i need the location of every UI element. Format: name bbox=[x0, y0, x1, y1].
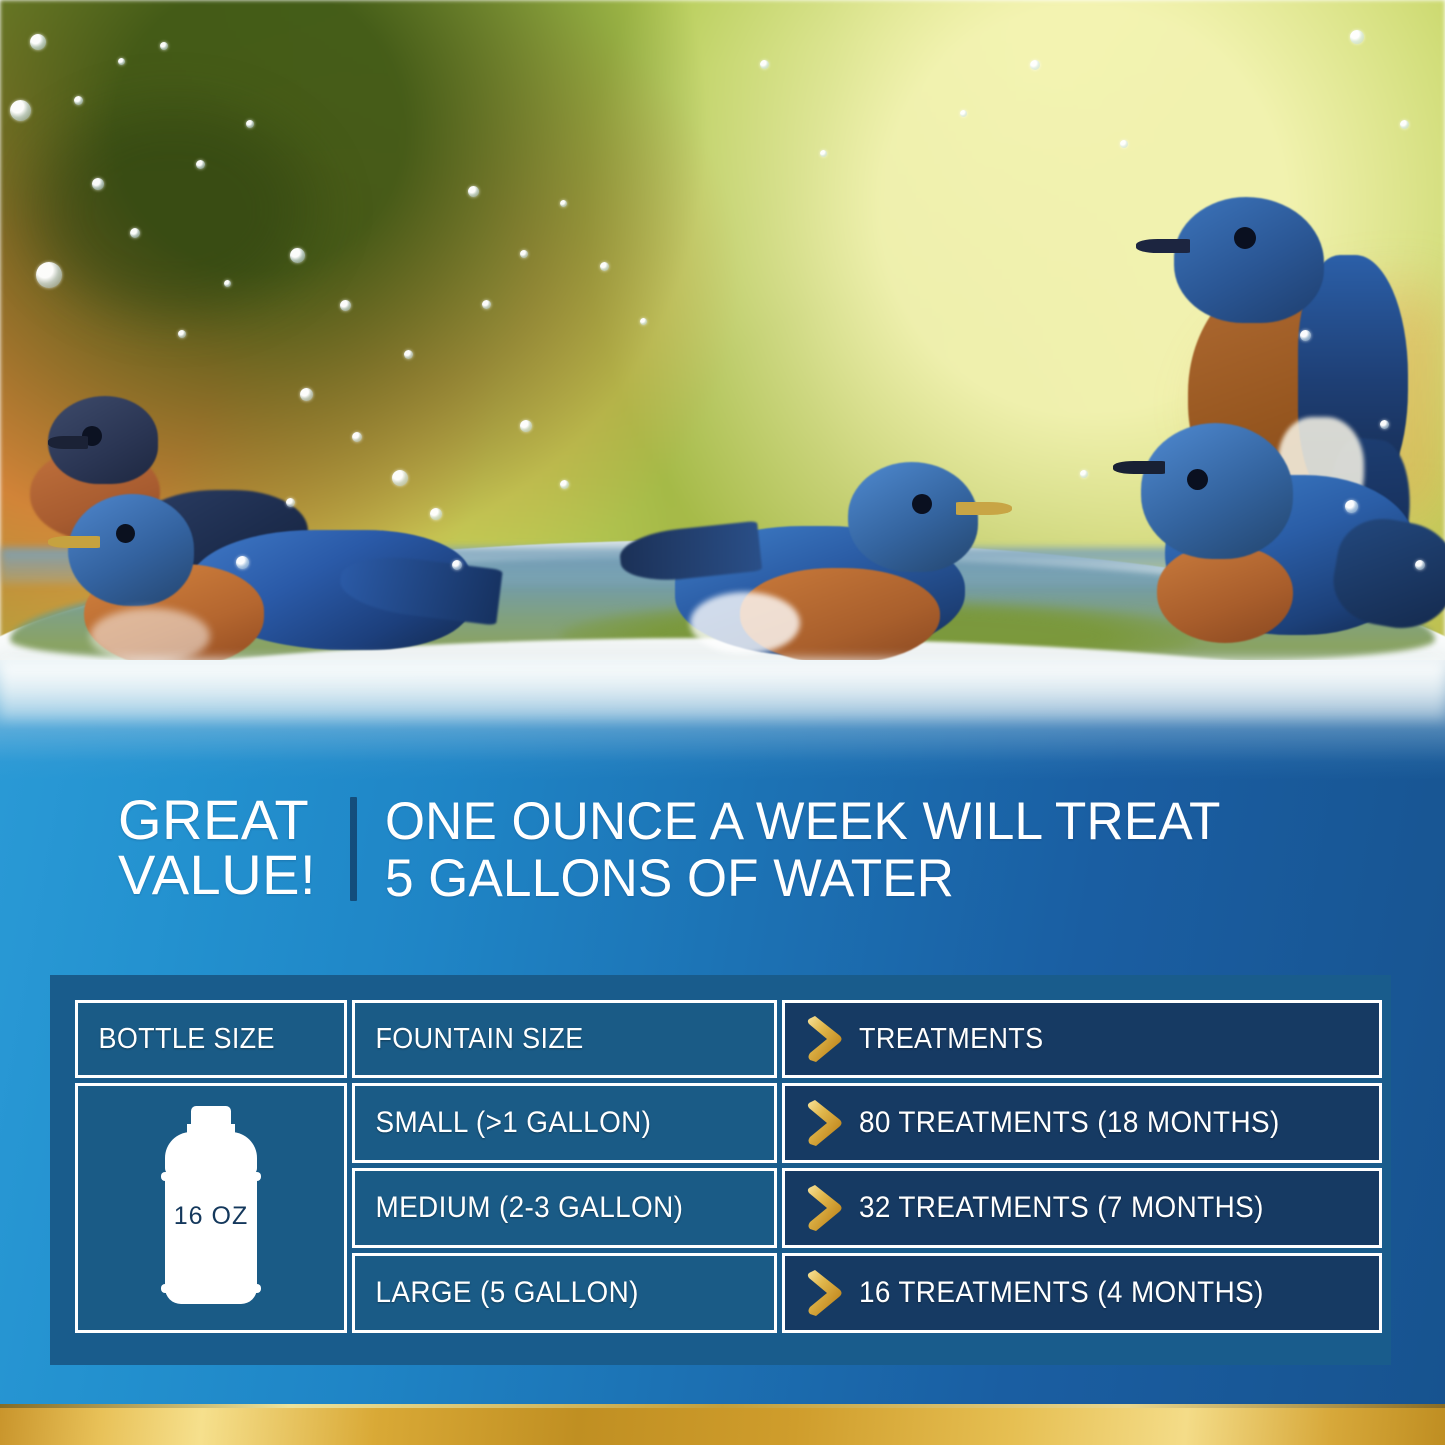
water-droplet bbox=[640, 318, 647, 325]
headline-divider bbox=[350, 797, 357, 901]
water-droplet bbox=[130, 228, 140, 238]
water-droplet bbox=[1380, 420, 1389, 429]
table-row: LARGE (5 GALLON) bbox=[352, 1253, 777, 1333]
bluebird-front-right bbox=[1105, 395, 1445, 655]
bottle-size-label: 16 OZ bbox=[157, 1202, 265, 1231]
table-row: SMALL (>1 GALLON) bbox=[352, 1083, 777, 1163]
header-label: FOUNTAIN SIZE bbox=[355, 1023, 584, 1056]
gold-chevron-icon bbox=[805, 1269, 845, 1317]
bluebird-center bbox=[620, 440, 1020, 670]
header-label: BOTTLE SIZE bbox=[78, 1023, 275, 1056]
table-header-bottle-size: BOTTLE SIZE bbox=[75, 1000, 347, 1078]
water-droplet bbox=[1415, 560, 1425, 570]
water-droplet bbox=[118, 58, 125, 65]
water-droplet bbox=[290, 248, 305, 263]
treatments-value: 16 TREATMENTS (4 MONTHS) bbox=[859, 1276, 1264, 1310]
water-droplet bbox=[160, 42, 168, 50]
gold-chevron-icon bbox=[805, 1015, 845, 1063]
water-droplet bbox=[520, 250, 528, 258]
water-droplet bbox=[236, 556, 249, 569]
photo-panel-blend-soft bbox=[0, 660, 1445, 720]
water-droplet bbox=[1345, 500, 1358, 513]
water-droplet bbox=[246, 120, 254, 128]
water-droplet bbox=[560, 200, 567, 207]
water-droplet bbox=[300, 388, 313, 401]
water-droplet bbox=[760, 60, 769, 69]
treatments-value: 80 TREATMENTS (18 MONTHS) bbox=[859, 1106, 1280, 1140]
water-droplet bbox=[404, 350, 413, 359]
water-droplet bbox=[1120, 140, 1128, 148]
great-value-eyebrow: GREAT VALUE! bbox=[118, 793, 316, 903]
banner-headline: ONE OUNCE A WEEK WILL TREAT 5 GALLONS OF… bbox=[385, 793, 1221, 907]
fountain-size-value: SMALL (>1 GALLON) bbox=[355, 1106, 651, 1140]
water-droplet bbox=[960, 110, 967, 117]
dosage-table: BOTTLE SIZE FOUNTAIN SIZE TREATMENTS bbox=[75, 1000, 1372, 1340]
table-row: 80 TREATMENTS (18 MONTHS) bbox=[782, 1083, 1382, 1163]
bottle-icon: 16 OZ bbox=[157, 1106, 265, 1311]
table-row: MEDIUM (2-3 GALLON) bbox=[352, 1168, 777, 1248]
water-droplet bbox=[1300, 330, 1311, 341]
water-droplet bbox=[560, 480, 569, 489]
water-droplet bbox=[452, 560, 462, 570]
water-droplet bbox=[1350, 30, 1364, 44]
water-droplet bbox=[286, 498, 295, 507]
treatments-value: 32 TREATMENTS (7 MONTHS) bbox=[859, 1191, 1264, 1225]
water-droplet bbox=[178, 330, 186, 338]
water-droplet bbox=[1030, 60, 1040, 70]
water-droplet bbox=[600, 262, 609, 271]
water-droplet bbox=[10, 100, 31, 121]
water-droplet bbox=[430, 508, 442, 520]
water-droplet bbox=[74, 96, 83, 105]
water-droplet bbox=[520, 420, 532, 432]
water-droplet bbox=[352, 432, 362, 442]
table-row: 16 TREATMENTS (4 MONTHS) bbox=[782, 1253, 1382, 1333]
water-droplet bbox=[392, 470, 408, 486]
water-droplet bbox=[820, 150, 827, 157]
table-row: 32 TREATMENTS (7 MONTHS) bbox=[782, 1168, 1382, 1248]
water-droplet bbox=[196, 160, 205, 169]
water-droplet bbox=[92, 178, 104, 190]
banner-headline-block: GREAT VALUE! ONE OUNCE A WEEK WILL TREAT… bbox=[118, 793, 1246, 907]
water-droplet bbox=[1080, 470, 1088, 478]
table-header-fountain-size: FOUNTAIN SIZE bbox=[352, 1000, 777, 1078]
water-droplet bbox=[468, 186, 479, 197]
product-infographic: GREAT VALUE! ONE OUNCE A WEEK WILL TREAT… bbox=[0, 0, 1445, 1445]
fountain-size-value: LARGE (5 GALLON) bbox=[355, 1276, 639, 1310]
water-droplet bbox=[340, 300, 351, 311]
water-droplet bbox=[482, 300, 491, 309]
bottle-groove-top bbox=[161, 1172, 261, 1181]
water-droplet bbox=[1400, 120, 1409, 129]
bottle-graphic-cell: 16 OZ bbox=[75, 1083, 347, 1333]
bluebird-front-left bbox=[40, 460, 460, 680]
bottle-groove-bottom bbox=[161, 1284, 261, 1293]
hero-photo bbox=[0, 0, 1445, 700]
water-droplet bbox=[36, 262, 62, 288]
table-header-treatments: TREATMENTS bbox=[782, 1000, 1382, 1078]
gold-footer-bar bbox=[0, 1408, 1445, 1445]
water-droplet bbox=[30, 34, 46, 50]
header-label: TREATMENTS bbox=[859, 1023, 1044, 1056]
gold-chevron-icon bbox=[805, 1099, 845, 1147]
fountain-size-value: MEDIUM (2-3 GALLON) bbox=[355, 1191, 683, 1225]
gold-chevron-icon bbox=[805, 1184, 845, 1232]
water-droplet bbox=[224, 280, 231, 287]
